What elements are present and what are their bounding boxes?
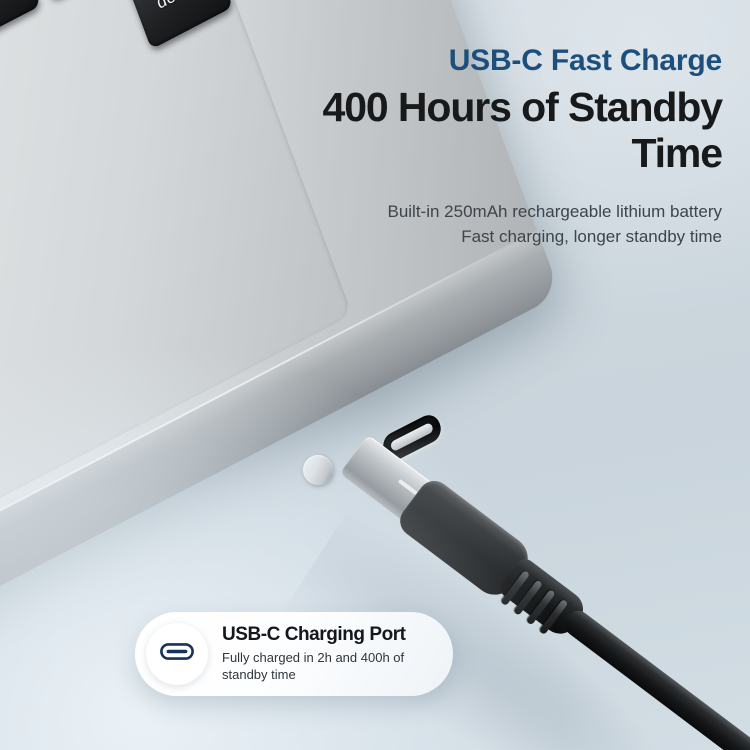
headline-block: USB-C Fast Charge 400 Hours of Standby T… [222, 44, 722, 250]
product-marketing-image: F8 ⏭ F9 ◁ F10 ◁ F11 ◁ F12 O [0, 0, 750, 750]
subtitle-line-1: Built-in 250mAh rechargeable lithium bat… [222, 199, 722, 225]
callout-title: USB-C Charging Port [222, 624, 406, 646]
cable-wire [560, 606, 750, 750]
page-title: 400 Hours of Standby Time [222, 85, 722, 177]
usb-c-callout-card: USB-C Charging Port Fully charged in 2h … [135, 612, 453, 696]
callout-description-line-1: Fully charged in 2h and 400h of [222, 649, 406, 666]
usb-c-port-icon [160, 643, 194, 665]
subtitle-block: Built-in 250mAh rechargeable lithium bat… [222, 199, 722, 250]
callout-description: Fully charged in 2h and 400h of standby … [222, 649, 406, 684]
subtitle-line-2: Fast charging, longer standby time [222, 224, 722, 250]
callout-description-line-2: standby time [222, 666, 406, 683]
callout-text-wrapper: USB-C Charging Port Fully charged in 2h … [222, 624, 418, 683]
callout-icon-wrapper [146, 623, 208, 685]
eyebrow-text: USB-C Fast Charge [222, 44, 722, 77]
